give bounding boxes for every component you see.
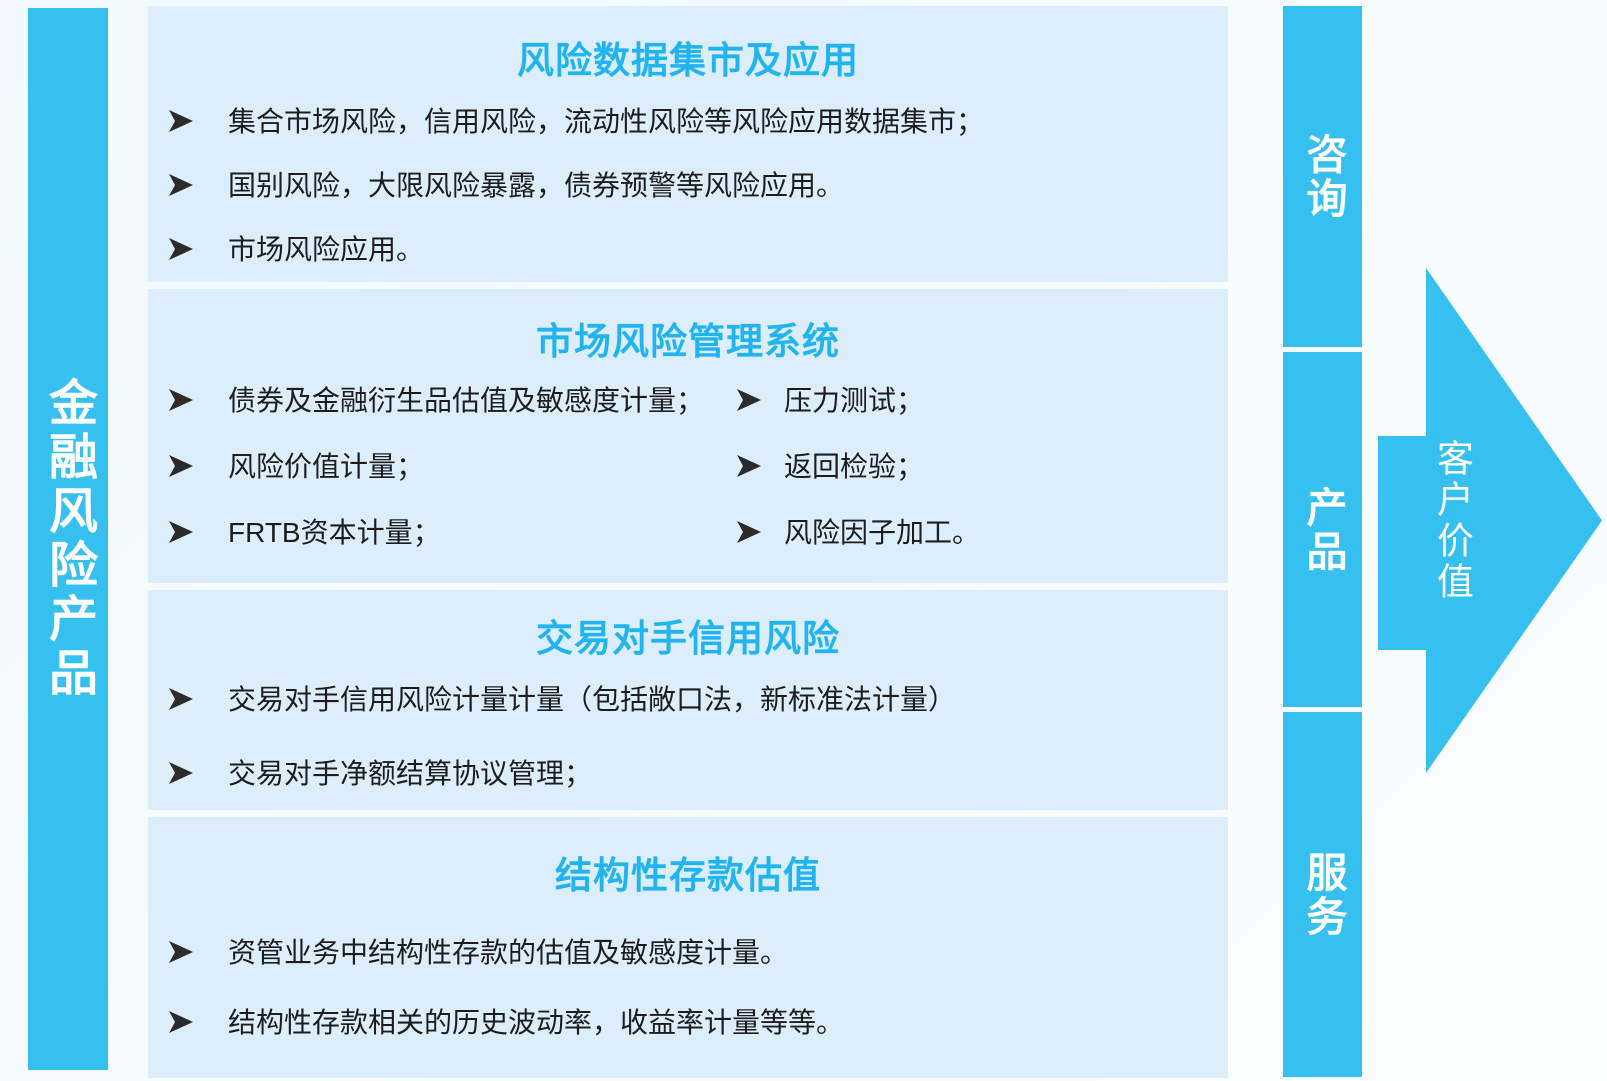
list-item-label: 集合市场风险，信用风险，流动性风险等风险应用数据集市；: [228, 108, 1228, 136]
bullet-list: 集合市场风险，信用风险，流动性风险等风险应用数据集市； 国别风险，大限风险暴露，…: [148, 108, 1228, 264]
list-item: 市场风险应用。: [148, 236, 1228, 264]
arrow-bullet-icon: [148, 236, 228, 262]
list-item: 国别风险，大限风险暴露，债券预警等风险应用。: [148, 172, 1228, 200]
customer-value-label: 客户价值: [1406, 268, 1496, 773]
list-item: 资管业务中结构性存款的估值及敏感度计量。: [148, 939, 1228, 967]
list-item-label: 资管业务中结构性存款的估值及敏感度计量。: [228, 939, 1228, 967]
list-item: FRTB资本计量；: [148, 519, 704, 547]
bullet-list: 资管业务中结构性存款的估值及敏感度计量。 结构性存款相关的历史波动率，收益率计量…: [148, 939, 1228, 1037]
slide-canvas: 金融风险产品 风险数据集市及应用 集合市场风险，信用风险，流动性风险等风险应用数…: [0, 0, 1607, 1081]
panel-title: 风险数据集市及应用: [148, 6, 1228, 84]
list-item-label: FRTB资本计量；: [228, 519, 704, 547]
list-item: 返回检验；: [704, 453, 1228, 481]
list-item: 压力测试；: [704, 387, 1228, 415]
list-item: 结构性存款相关的历史波动率，收益率计量等等。: [148, 1009, 1228, 1037]
list-item-label: 债券及金融衍生品估值及敏感度计量；: [228, 387, 704, 415]
list-item: 风险价值计量；: [148, 453, 704, 481]
arrow-bullet-icon: [704, 453, 784, 479]
list-item-label: 结构性存款相关的历史波动率，收益率计量等等。: [228, 1009, 1228, 1037]
list-item-label: 风险价值计量；: [228, 453, 704, 481]
customer-value-arrow: 客户价值: [1378, 268, 1602, 773]
arrow-bullet-icon: [148, 686, 228, 712]
arrow-bullet-icon: [148, 939, 228, 965]
arrow-bullet-icon: [148, 453, 228, 479]
bullet-columns: 债券及金融衍生品估值及敏感度计量； 风险价值计量；: [148, 387, 1228, 583]
arrow-bullet-icon: [704, 519, 784, 545]
left-category-label: 金融风险产品: [43, 377, 93, 701]
panel-title: 交易对手信用风险: [148, 590, 1228, 662]
list-item: 债券及金融衍生品估值及敏感度计量；: [148, 387, 704, 415]
stage-item-label: 产品: [1301, 486, 1344, 574]
arrow-bullet-icon: [148, 172, 228, 198]
arrow-bullet-icon: [148, 387, 228, 413]
list-item-label: 交易对手信用风险计量计量（包括敞口法，新标准法计量）: [228, 686, 1228, 714]
list-item: 交易对手净额结算协议管理；: [148, 760, 1228, 788]
arrow-bullet-icon: [148, 760, 228, 786]
stage-item-label: 咨询: [1301, 133, 1344, 221]
stage-item-consulting: 咨询: [1283, 6, 1362, 347]
arrow-bullet-icon: [148, 1009, 228, 1035]
panel-counterparty-credit-risk: 交易对手信用风险 交易对手信用风险计量计量（包括敞口法，新标准法计量）: [148, 590, 1228, 810]
panel-risk-data-mart: 风险数据集市及应用 集合市场风险，信用风险，流动性风险等风险应用数据集市；: [148, 6, 1228, 282]
list-item-label: 返回检验；: [784, 453, 1228, 481]
arrow-bullet-icon: [704, 387, 784, 413]
panel-title: 结构性存款估值: [148, 817, 1228, 899]
list-item-label: 风险因子加工。: [784, 519, 1228, 547]
left-category-bar: 金融风险产品: [28, 8, 108, 1070]
list-item-label: 交易对手净额结算协议管理；: [228, 760, 1228, 788]
arrow-bullet-icon: [148, 108, 228, 134]
list-item: 交易对手信用风险计量计量（包括敞口法，新标准法计量）: [148, 686, 1228, 714]
panel-title: 市场风险管理系统: [148, 289, 1228, 365]
arrow-bullet-icon: [148, 519, 228, 545]
panel-structured-deposit-valuation: 结构性存款估值 资管业务中结构性存款的估值及敏感度计量。: [148, 817, 1228, 1078]
stage-item-label: 服务: [1301, 851, 1344, 939]
content-stack: 风险数据集市及应用 集合市场风险，信用风险，流动性风险等风险应用数据集市；: [148, 6, 1228, 1078]
list-item: 集合市场风险，信用风险，流动性风险等风险应用数据集市；: [148, 108, 1228, 136]
bullet-column-left: 债券及金融衍生品估值及敏感度计量； 风险价值计量；: [148, 387, 704, 583]
stage-item-product: 产品: [1283, 352, 1362, 707]
list-item-label: 压力测试；: [784, 387, 1228, 415]
stage-item-service: 服务: [1283, 712, 1362, 1077]
bullet-list: 交易对手信用风险计量计量（包括敞口法，新标准法计量） 交易对手净额结算协议管理；: [148, 686, 1228, 788]
list-item: 风险因子加工。: [704, 519, 1228, 547]
list-item-label: 市场风险应用。: [228, 236, 1228, 264]
panel-market-risk-system: 市场风险管理系统 债券及金融衍生品估值及敏感度计量；: [148, 289, 1228, 583]
stage-column: 咨询 产品 服务: [1283, 6, 1362, 1078]
bullet-column-right: 压力测试； 返回检验；: [704, 387, 1228, 583]
list-item-label: 国别风险，大限风险暴露，债券预警等风险应用。: [228, 172, 1228, 200]
